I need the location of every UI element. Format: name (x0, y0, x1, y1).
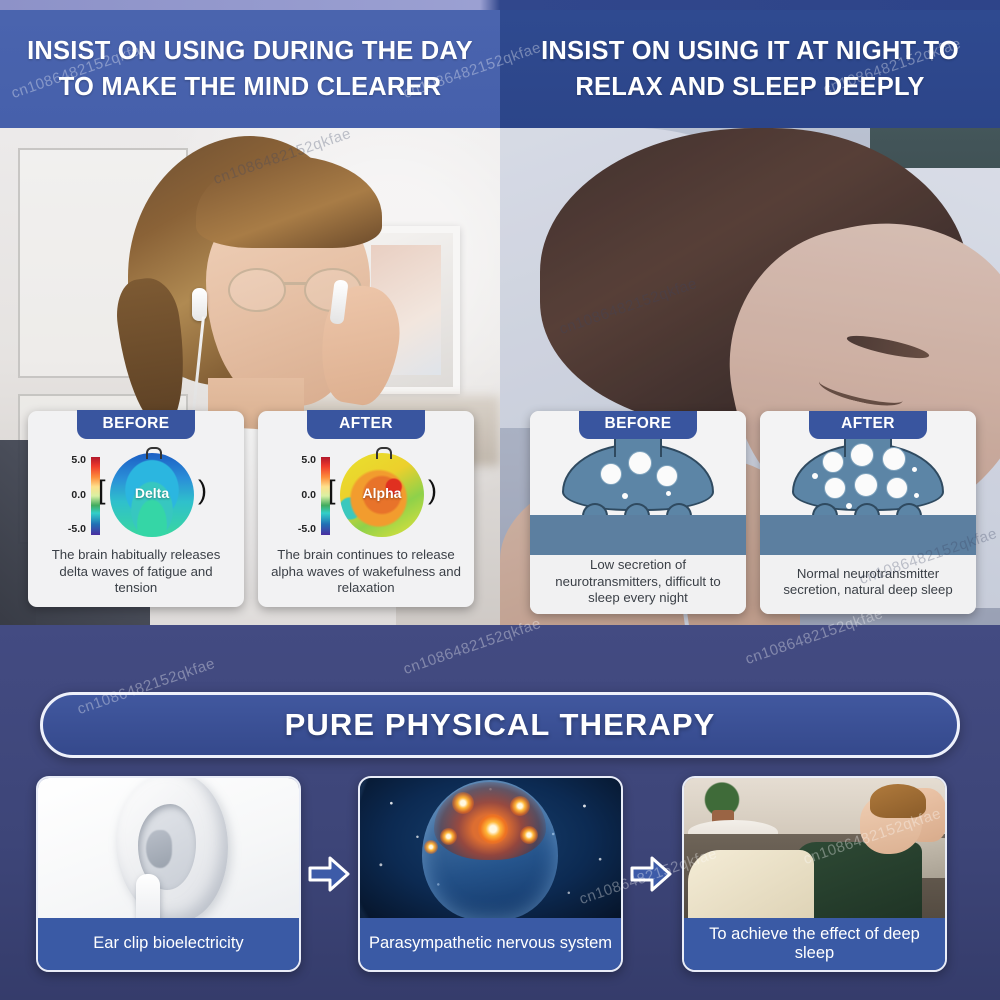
card-synapse-after-caption: Normal neurotransmitter secretion, natur… (760, 558, 976, 614)
ear-clip-icon (136, 874, 160, 918)
product-infographic: INSIST ON USING DURING THE DAY TO MAKE T… (0, 0, 1000, 1000)
headline-night-line2: RELAX AND SLEEP DEEPLY (541, 69, 959, 105)
eeg-scale-bottom: -5.0 (298, 523, 316, 535)
step-image-brain (360, 778, 621, 918)
card-synapse-before-tab: BEFORE (579, 411, 697, 439)
card-eeg-after-tab: AFTER (307, 410, 425, 439)
card-synapse-after-tab: AFTER (809, 411, 927, 439)
bracket-right-icon: ) (428, 477, 437, 504)
eeg-scale-mid: 0.0 (71, 489, 86, 501)
card-synapse-before-caption: Low secretion of neurotransmitters, diff… (530, 558, 746, 614)
card-synapse-before: BEFORE Low secretion of neurotransmitter… (530, 411, 746, 614)
headline-day: INSIST ON USING DURING THE DAY TO MAKE T… (0, 10, 500, 128)
eeg-topomap-delta: Delta (110, 453, 194, 537)
eeg-figure-delta: 5.0 0.0 -5.0 [ Delta ) (28, 451, 244, 539)
arrow-right-icon-1 (308, 854, 350, 894)
step-card-deep-sleep: To achieve the effect of deep sleep (682, 776, 947, 972)
headline-night-line1: INSIST ON USING IT AT NIGHT TO (541, 33, 959, 69)
card-eeg-after-caption: The brain continues to release alpha wav… (258, 545, 474, 607)
eeg-scale-bottom: -5.0 (68, 523, 86, 535)
headline-day-line2: TO MAKE THE MIND CLEARER (27, 69, 473, 105)
banner-title: PURE PHYSICAL THERAPY (285, 707, 716, 743)
step-caption-1: Ear clip bioelectricity (38, 918, 299, 970)
step-image-sleeping-man (684, 778, 945, 918)
card-eeg-after: AFTER 5.0 0.0 -5.0 [ Alpha ) The brain c… (258, 411, 474, 607)
step-caption-3: To achieve the effect of deep sleep (684, 918, 945, 970)
arrow-right-icon-2 (630, 854, 672, 894)
step-card-parasympathetic: Parasympathetic nervous system (358, 776, 623, 972)
eeg-figure-alpha: 5.0 0.0 -5.0 [ Alpha ) (258, 451, 474, 539)
bracket-left-icon: [ (328, 477, 336, 504)
eeg-topomap-alpha: Alpha (340, 453, 424, 537)
pure-physical-therapy-banner: PURE PHYSICAL THERAPY (40, 692, 960, 758)
bracket-left-icon: [ (98, 477, 106, 504)
step-caption-2: Parasympathetic nervous system (360, 918, 621, 970)
headline-day-line1: INSIST ON USING DURING THE DAY (27, 33, 473, 69)
eeg-band-label-delta: Delta (110, 485, 194, 501)
headline-night: INSIST ON USING IT AT NIGHT TO RELAX AND… (500, 10, 1000, 128)
top-accent-strip (0, 0, 1000, 10)
eeg-scale-top: 5.0 (301, 454, 316, 466)
step-card-ear-clip: Ear clip bioelectricity (36, 776, 301, 972)
step-image-ear (38, 778, 299, 918)
eeg-scale-top: 5.0 (71, 454, 86, 466)
eeg-band-label-alpha: Alpha (340, 485, 424, 501)
card-eeg-before-caption: The brain habitually releases delta wave… (28, 545, 244, 607)
eeg-scale-mid: 0.0 (301, 489, 316, 501)
bracket-right-icon: ) (198, 477, 207, 504)
card-eeg-before-tab: BEFORE (77, 410, 195, 439)
photo-band: BEFORE 5.0 0.0 -5.0 [ Delta ) The brain … (0, 128, 1000, 625)
card-synapse-after: AFTER Normal neurotransmitter secretion,… (760, 411, 976, 614)
card-eeg-before: BEFORE 5.0 0.0 -5.0 [ Delta ) The brain … (28, 411, 244, 607)
